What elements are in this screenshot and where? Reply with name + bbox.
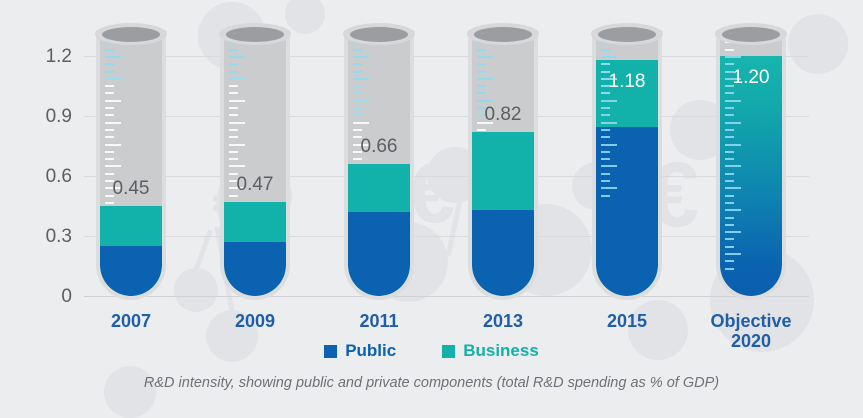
x-axis-label-line: 2009 — [200, 311, 310, 331]
gridline-0.6 — [84, 176, 809, 177]
bar-segment-business — [472, 132, 534, 296]
tube-glass — [224, 34, 286, 296]
bar-segment-business — [596, 60, 658, 296]
legend-label: Public — [345, 341, 396, 361]
legend-label: Business — [463, 341, 539, 361]
rd-intensity-chart: € € € — [0, 0, 863, 418]
legend-item[interactable]: Business — [442, 341, 539, 361]
y-tick-label: 0.3 — [24, 227, 72, 246]
tube-glass — [472, 34, 534, 296]
x-axis-label-line: 2015 — [572, 311, 682, 331]
x-axis-label: 2011 — [324, 311, 434, 331]
bar-value-label: 1.18 — [582, 72, 672, 91]
legend-item[interactable]: Public — [324, 341, 396, 361]
gridline-0.3 — [84, 236, 809, 237]
tube-glass — [348, 34, 410, 296]
tube-mouth — [226, 27, 284, 42]
bar-segment-business — [348, 164, 410, 296]
x-axis-label: 2007 — [76, 311, 186, 331]
x-axis-label: 2009 — [200, 311, 310, 331]
x-axis-label-line: 2011 — [324, 311, 434, 331]
x-axis-label-line: 2007 — [76, 311, 186, 331]
chart-legend: PublicBusiness — [0, 341, 863, 361]
bar-segment-public — [472, 210, 534, 296]
bar-segment-business — [224, 202, 286, 296]
legend-swatch-icon — [442, 345, 455, 358]
gridline-0.9 — [84, 116, 809, 117]
bar-value-label: 0.47 — [210, 175, 300, 194]
bar-segment-public — [100, 246, 162, 296]
x-axis-label-line: 2013 — [448, 311, 558, 331]
bar-segment-public — [224, 242, 286, 296]
tube-mouth — [350, 27, 408, 42]
y-tick-label: 0.9 — [24, 107, 72, 126]
tube-mouth — [722, 27, 780, 42]
gridline-1.2 — [84, 56, 809, 57]
tube-mouth — [474, 27, 532, 42]
chart-caption: R&D intensity, showing public and privat… — [0, 375, 863, 391]
y-tick-label: 0 — [24, 287, 72, 306]
x-axis-label: 2015 — [572, 311, 682, 331]
tube-mouth — [102, 27, 160, 42]
bar-value-label: 0.45 — [86, 179, 176, 198]
bar-segment-public — [596, 127, 658, 296]
legend-swatch-icon — [324, 345, 337, 358]
gridline-0 — [84, 296, 809, 297]
bar-value-label: 0.82 — [458, 105, 548, 124]
y-tick-label: 0.6 — [24, 167, 72, 186]
x-axis-label: 2013 — [448, 311, 558, 331]
bar-value-label: 0.66 — [334, 137, 424, 156]
x-axis-label-line: Objective — [696, 311, 806, 331]
tube-glass — [100, 34, 162, 296]
tube-mouth — [598, 27, 656, 42]
y-tick-label: 1.2 — [24, 47, 72, 66]
bar-value-label: 1.20 — [706, 68, 796, 87]
bar-fill-gradient — [720, 56, 782, 296]
bar-segment-public — [348, 212, 410, 296]
bar-segment-business — [100, 206, 162, 296]
